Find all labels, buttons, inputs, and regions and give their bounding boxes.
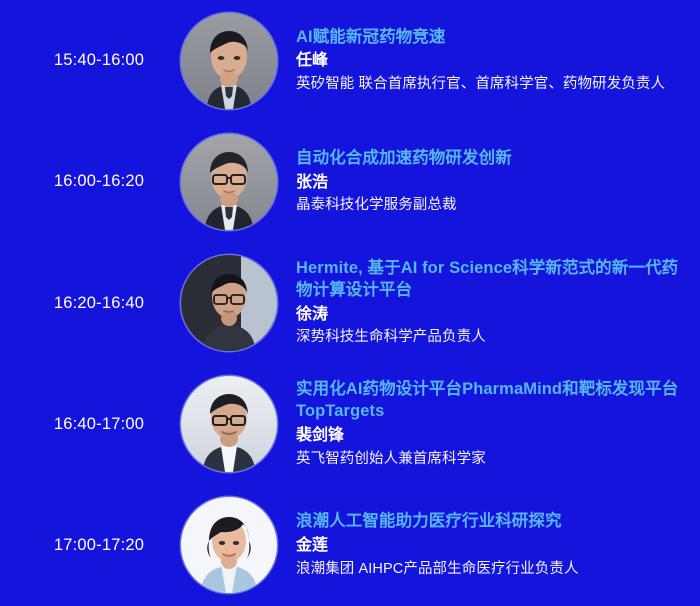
session-time: 15:40-16:00 — [24, 51, 174, 70]
session-time: 16:40-17:00 — [24, 415, 174, 434]
avatar — [181, 255, 277, 351]
agenda-row[interactable]: 16:20-16:40 Hermite, 基于AI for Science — [0, 242, 700, 363]
speaker-name: 张浩 — [296, 172, 690, 195]
session-info: AI赋能新冠药物竞速 任峰 英矽智能 联合首席执行官、首席科学官、药物研发负责人 — [284, 27, 700, 95]
talk-title: AI赋能新冠药物竞速 — [296, 27, 690, 49]
speaker-avatar-cell — [174, 255, 284, 351]
session-time: 17:00-17:20 — [24, 536, 174, 555]
speaker-affiliation: 晶泰科技化学服务副总裁 — [296, 195, 690, 216]
talk-title: 实用化AI药物设计平台PharmaMind和靶标发现平台TopTargets — [296, 379, 690, 423]
session-info: 浪潮人工智能助力医疗行业科研探究 金莲 浪潮集团 AIHPC产品部生命医疗行业负… — [284, 511, 700, 579]
speaker-name: 金莲 — [296, 535, 690, 558]
speaker-affiliation: 英飞智药创始人兼首席科学家 — [296, 449, 690, 470]
speaker-affiliation: 浪潮集团 AIHPC产品部生命医疗行业负责人 — [296, 559, 690, 580]
session-time: 16:00-16:20 — [24, 172, 174, 191]
avatar — [181, 134, 277, 230]
session-info: Hermite, 基于AI for Science科学新范式的新一代药物计算设计… — [284, 258, 700, 348]
speaker-name: 裴剑锋 — [296, 425, 690, 448]
speaker-affiliation: 深势科技生命科学产品负责人 — [296, 327, 690, 348]
agenda-row[interactable]: 16:40-17:00 — [0, 364, 700, 485]
agenda-list: 15:40-16:00 — [0, 0, 700, 606]
talk-title: Hermite, 基于AI for Science科学新范式的新一代药物计算设计… — [296, 258, 690, 302]
speaker-avatar-cell — [174, 13, 284, 109]
avatar — [181, 13, 277, 109]
speaker-name: 徐涛 — [296, 304, 690, 327]
speaker-name: 任峰 — [296, 50, 690, 73]
talk-title: 浪潮人工智能助力医疗行业科研探究 — [296, 511, 690, 533]
session-info: 自动化合成加速药物研发创新 张浩 晶泰科技化学服务副总裁 — [284, 148, 700, 216]
agenda-row[interactable]: 15:40-16:00 — [0, 0, 700, 121]
talk-title: 自动化合成加速药物研发创新 — [296, 148, 690, 170]
session-time: 16:20-16:40 — [24, 294, 174, 313]
speaker-affiliation: 英矽智能 联合首席执行官、首席科学官、药物研发负责人 — [296, 74, 690, 95]
session-info: 实用化AI药物设计平台PharmaMind和靶标发现平台TopTargets 裴… — [284, 379, 700, 469]
speaker-avatar-cell — [174, 376, 284, 472]
agenda-row[interactable]: 16:00-16:20 — [0, 121, 700, 242]
avatar — [181, 376, 277, 472]
speaker-avatar-cell — [174, 134, 284, 230]
agenda-row[interactable]: 17:00-17:20 浪潮人工智能助力医疗行业科研 — [0, 485, 700, 606]
speaker-avatar-cell — [174, 497, 284, 593]
avatar — [181, 497, 277, 593]
